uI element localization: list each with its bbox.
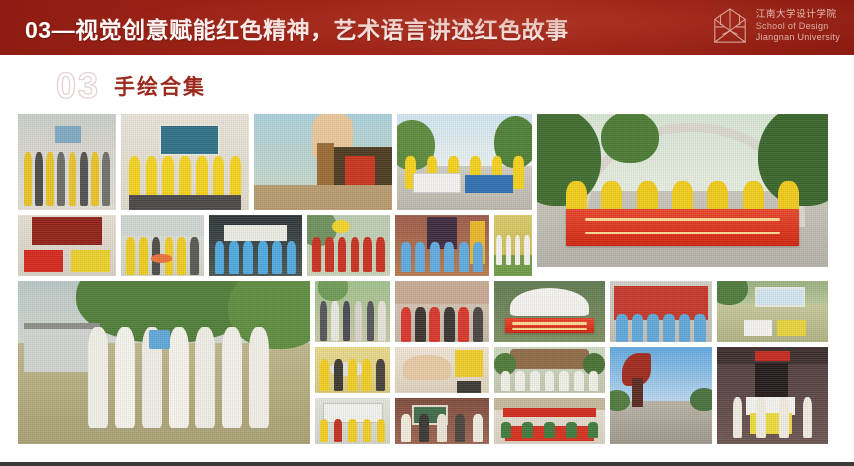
gallery-item[interactable] [716, 280, 829, 343]
logo-cn-name: 江南大学设计学院 [756, 9, 840, 21]
logo-en-line1: School of Design [756, 21, 840, 32]
gallery-item[interactable] [493, 280, 606, 343]
gallery-item[interactable] [120, 214, 205, 277]
gallery-item[interactable] [314, 346, 391, 394]
gallery-item[interactable] [493, 397, 606, 445]
gallery-item[interactable] [493, 214, 533, 277]
gallery-item[interactable] [314, 397, 391, 445]
gallery-item[interactable] [17, 113, 117, 211]
gallery-item[interactable] [208, 214, 303, 277]
section-label: 手绘合集 [114, 71, 206, 101]
gallery-item[interactable] [536, 113, 829, 268]
gallery-item[interactable] [396, 113, 533, 211]
gallery-item[interactable] [609, 346, 713, 445]
jiangnan-university-crest-icon [711, 6, 749, 46]
gallery-item[interactable] [253, 113, 393, 211]
page-title: 03—视觉创意赋能红色精神，艺术语言讲述红色故事 [25, 11, 569, 45]
page-header: 03—视觉创意赋能红色精神，艺术语言讲述红色故事 江南大学设计学院 School… [0, 0, 854, 55]
section-number: 03 [56, 68, 100, 104]
gallery-item[interactable] [609, 280, 713, 343]
gallery-item[interactable] [394, 214, 490, 277]
gallery-item[interactable] [394, 280, 490, 343]
gallery-item[interactable] [394, 397, 490, 445]
gallery-item[interactable] [716, 346, 829, 445]
gallery-item[interactable] [314, 280, 391, 343]
gallery-item[interactable] [17, 214, 117, 277]
gallery-item[interactable] [306, 214, 391, 277]
gallery-item[interactable] [394, 346, 490, 394]
image-gallery [17, 113, 829, 438]
university-logo: 江南大学设计学院 School of Design Jiangnan Unive… [711, 6, 840, 46]
footer-bar [0, 462, 854, 466]
gallery-item[interactable] [17, 280, 311, 445]
gallery-item[interactable] [120, 113, 250, 211]
section-heading: 03 手绘合集 [56, 66, 206, 106]
logo-en-line2: Jiangnan University [756, 32, 840, 43]
gallery-item[interactable] [493, 346, 606, 394]
